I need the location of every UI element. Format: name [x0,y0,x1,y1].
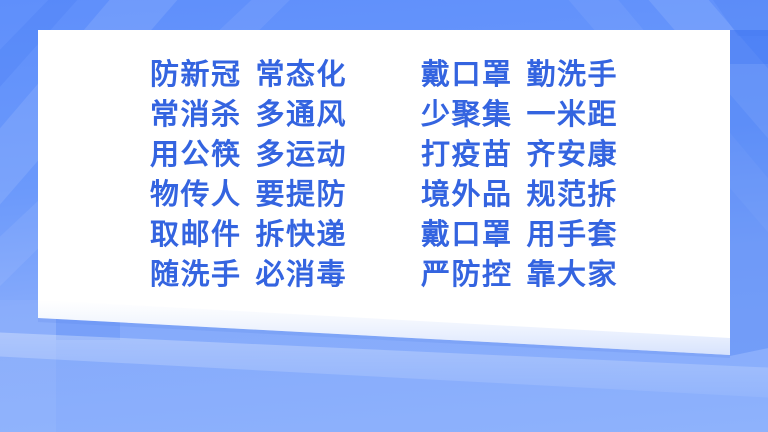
slogan-line: 戴口罩 用手套 [421,219,618,249]
slogan-phrase-b: 用手套 [527,219,619,249]
slogan-line: 用公筷 多运动 [150,139,347,169]
slogan-phrase-a: 取邮件 [150,219,242,249]
slogan-phrase-a: 物传人 [150,179,242,209]
slogan-phrase-b: 一米距 [527,99,619,129]
slogan-phrase-b: 必消毒 [255,259,347,289]
slogan-phrase-a: 随洗手 [150,259,242,289]
slogan-phrase-a: 境外品 [421,179,513,209]
slogan-line: 打疫苗 齐安康 [421,139,618,169]
slogan-phrase-a: 戴口罩 [421,59,513,89]
slogan-column-left: 防新冠 常态化 常消杀 多通风 用公筷 多运动 物传人 要提防 取邮件 拆快递 … [150,59,347,289]
slogan-line: 境外品 规范拆 [421,179,618,209]
slogan-phrase-b: 多运动 [255,139,347,169]
slogan-line: 防新冠 常态化 [150,59,347,89]
slogan-line: 严防控 靠大家 [421,259,618,289]
slogan-phrase-b: 靠大家 [527,259,619,289]
slogan-line: 取邮件 拆快递 [150,219,347,249]
slogan-phrase-a: 用公筷 [150,139,242,169]
slogan-line: 随洗手 必消毒 [150,259,347,289]
poster-canvas: 防新冠 常态化 常消杀 多通风 用公筷 多运动 物传人 要提防 取邮件 拆快递 … [0,0,768,432]
slogan-line: 常消杀 多通风 [150,99,347,129]
slogan-phrase-a: 常消杀 [150,99,242,129]
slogan-line: 戴口罩 勤洗手 [421,59,618,89]
slogan-phrase-a: 少聚集 [421,99,513,129]
slogan-phrase-a: 防新冠 [150,59,242,89]
slogan-phrase-b: 常态化 [255,59,347,89]
slogan-phrase-b: 要提防 [255,179,347,209]
slogan-line: 物传人 要提防 [150,179,347,209]
slogan-column-right: 戴口罩 勤洗手 少聚集 一米距 打疫苗 齐安康 境外品 规范拆 戴口罩 用手套 … [421,59,618,289]
slogan-phrase-b: 规范拆 [527,179,619,209]
slogan-phrase-a: 严防控 [421,259,513,289]
slogan-line: 少聚集 一米距 [421,99,618,129]
slogan-text-block: 防新冠 常态化 常消杀 多通风 用公筷 多运动 物传人 要提防 取邮件 拆快递 … [38,30,730,318]
slogan-phrase-a: 戴口罩 [421,219,513,249]
slogan-phrase-b: 拆快递 [255,219,347,249]
slogan-phrase-a: 打疫苗 [421,139,513,169]
slogan-phrase-b: 齐安康 [527,139,619,169]
slogan-phrase-b: 勤洗手 [527,59,619,89]
slogan-phrase-b: 多通风 [255,99,347,129]
